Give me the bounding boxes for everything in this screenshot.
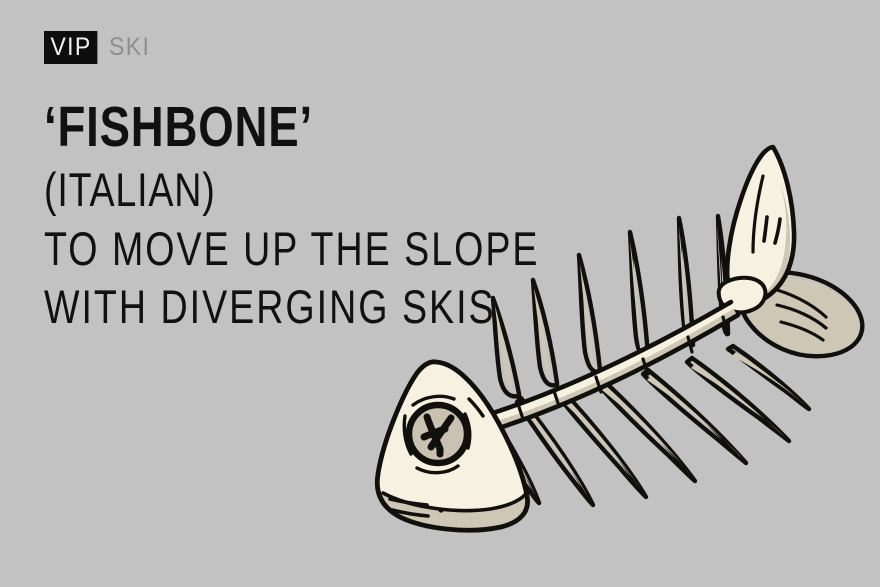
brand-logo[interactable]: VIP SKI — [44, 31, 154, 63]
logo-ski-word: SKI — [109, 32, 150, 62]
definition-line-2: WITH DIVERGING SKIS — [44, 278, 420, 336]
crossed-skis-mark — [424, 417, 451, 454]
fish-head — [377, 362, 527, 530]
definition-block: ‘FISHBONE’ (ITALIAN) TO MOVE UP THE SLOP… — [44, 95, 514, 336]
lower-ribs — [482, 346, 809, 505]
language-label: (ITALIAN) — [44, 162, 420, 218]
logo-vip-mark: VIP — [44, 31, 97, 64]
poster-canvas: .bo{fill:none;stroke:#12100c;stroke-line… — [0, 0, 880, 587]
page-title: ‘FISHBONE’ — [44, 95, 420, 159]
definition-line-1: TO MOVE UP THE SLOPE — [44, 220, 420, 278]
fish-tail — [719, 147, 863, 356]
